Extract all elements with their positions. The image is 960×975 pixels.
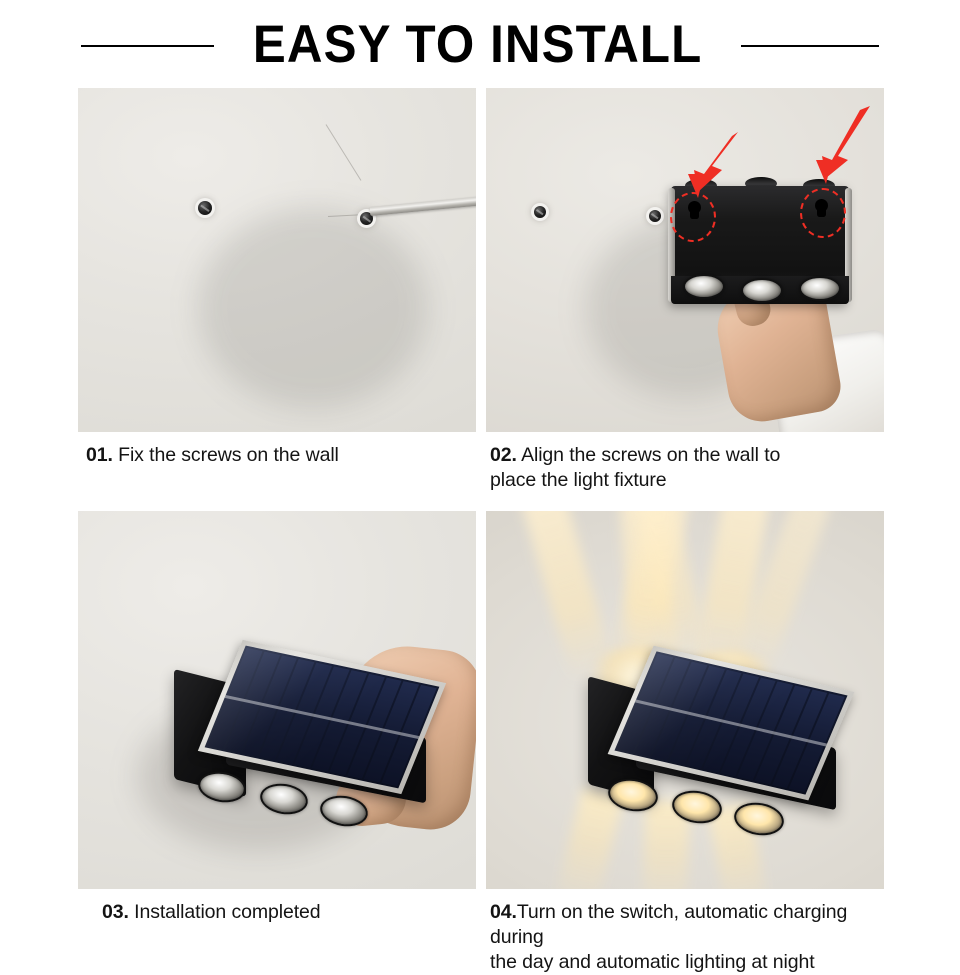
screw-icon: [198, 201, 212, 215]
step-text-02-line1: Align the screws on the wall to: [521, 444, 780, 466]
step-caption-03: 03. Installation completed: [78, 889, 476, 925]
screw-icon: [534, 206, 546, 218]
page-title: EASY TO INSTALL: [253, 18, 702, 71]
step-photo-03: [78, 511, 476, 889]
steps-row-2: 03. Installation completed: [78, 511, 884, 975]
step-number-04: 04.: [490, 901, 517, 923]
red-arrow-icon: [682, 130, 742, 200]
red-dashed-circle-icon: [800, 188, 846, 238]
step-text-03: Installation completed: [134, 901, 320, 923]
title-rule-left: [81, 45, 214, 47]
led-lens-icon: [799, 276, 841, 301]
step-text-04-line1: Turn on the switch, automatic charging d…: [490, 901, 847, 948]
step-caption-01: 01. Fix the screws on the wall: [78, 432, 476, 468]
step-number-03: 03.: [102, 901, 129, 923]
step-text-02-line2: place the light fixture: [490, 469, 667, 491]
title-rule-right: [741, 45, 879, 47]
step-photo-01: [78, 88, 476, 432]
led-lens-icon: [741, 278, 783, 303]
red-arrow-icon: [812, 106, 874, 182]
steps-grid: 01. Fix the screws on the wall: [78, 88, 884, 975]
light-fixture: [174, 666, 414, 816]
step-number-01: 01.: [86, 444, 113, 466]
step-card-02: 02. Align the screws on the wall to plac…: [486, 88, 884, 493]
screw-icon: [649, 210, 661, 222]
step-card-03: 03. Installation completed: [78, 511, 476, 975]
step-number-02: 02.: [490, 444, 517, 466]
step-text-01: Fix the screws on the wall: [118, 444, 339, 466]
step-caption-02: 02. Align the screws on the wall to plac…: [486, 432, 884, 493]
step-text-04-line2: the day and automatic lighting at night: [490, 951, 815, 973]
page-header: EASY TO INSTALL: [0, 0, 960, 88]
step-card-04: 04.Turn on the switch, automatic chargin…: [486, 511, 884, 975]
steps-row-1: 01. Fix the screws on the wall: [78, 88, 884, 493]
step-card-01: 01. Fix the screws on the wall: [78, 88, 476, 493]
light-fixture: [588, 671, 828, 821]
wall-shading: [198, 208, 428, 408]
led-lens-icon: [670, 787, 724, 826]
led-lens-icon: [258, 780, 310, 817]
step-photo-04: [486, 511, 884, 889]
step-photo-02: [486, 88, 884, 432]
step-caption-04: 04.Turn on the switch, automatic chargin…: [486, 889, 884, 975]
led-lens-icon: [683, 274, 725, 299]
